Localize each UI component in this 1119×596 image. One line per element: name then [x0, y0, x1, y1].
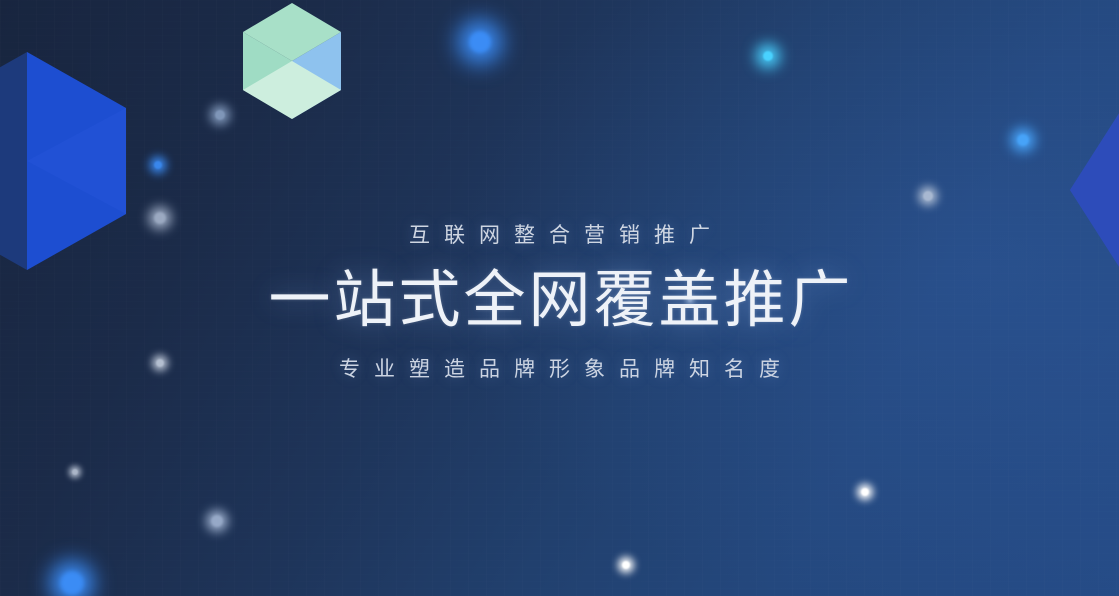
particle-dot: [1017, 134, 1029, 146]
hero-banner: 互联网整合营销推广 一站式全网覆盖推广 专业塑造品牌形象品牌知名度: [0, 0, 1119, 596]
hero-headline: 一站式全网覆盖推广: [0, 268, 1119, 335]
hero-text-block: 互联网整合营销推广 一站式全网覆盖推广 专业塑造品牌形象品牌知名度: [0, 225, 1119, 380]
hero-tagline: 专业塑造品牌形象品牌知名度: [0, 359, 1119, 380]
isometric-cube-logo: [243, 3, 341, 119]
particle-dot: [622, 561, 630, 569]
particle-dot: [763, 51, 773, 61]
particle-dot: [923, 191, 933, 201]
particle-dot: [154, 161, 162, 169]
particle-dot: [861, 488, 869, 496]
particle-dot: [211, 515, 223, 527]
hero-subtitle: 互联网整合营销推广: [0, 225, 1119, 246]
particle-dot: [469, 31, 491, 53]
particle-dot: [215, 110, 225, 120]
particle-dot: [60, 571, 84, 595]
particle-dot: [72, 469, 78, 475]
particle-dot: [154, 212, 166, 224]
